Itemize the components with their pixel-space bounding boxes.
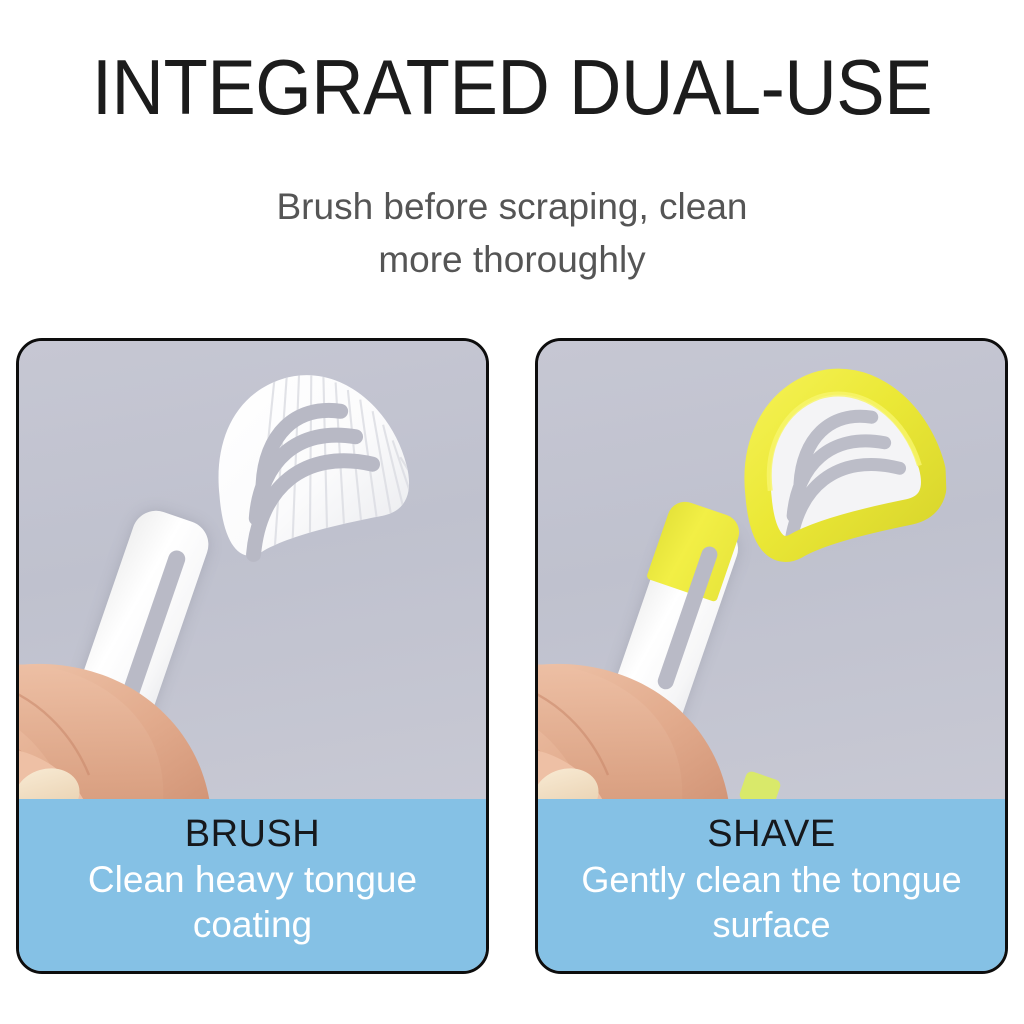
caption-band-shave: SHAVE Gently clean the tongue surface [538, 799, 1005, 971]
caption-title-shave: SHAVE [707, 811, 836, 857]
page-title: INTEGRATED DUAL-USE [36, 46, 988, 128]
subtitle-line-2: more thoroughly [0, 233, 1024, 286]
caption-title-brush: BRUSH [185, 811, 321, 857]
card-shave[interactable]: SHAVE Gently clean the tongue surface [535, 338, 1008, 974]
subtitle-line-1: Brush before scraping, clean [0, 180, 1024, 233]
page-subtitle: Brush before scraping, clean more thorou… [0, 180, 1024, 286]
caption-desc-shave-line-1: Gently clean the tongue [581, 857, 961, 902]
infographic-page: INTEGRATED DUAL-USE Brush before scrapin… [0, 0, 1024, 1024]
shave-head-icon [692, 359, 950, 608]
product-photo-brush [19, 341, 486, 805]
product-photo-shave [538, 341, 1005, 805]
caption-desc-brush-line-1: Clean heavy tongue [88, 857, 417, 902]
caption-desc-shave-line-2: surface [581, 902, 961, 947]
brush-head-icon [163, 361, 421, 600]
caption-desc-shave: Gently clean the tongue surface [577, 857, 965, 947]
caption-desc-brush-line-2: coating [88, 902, 417, 947]
caption-band-brush: BRUSH Clean heavy tongue coating [19, 799, 486, 971]
card-brush[interactable]: BRUSH Clean heavy tongue coating [16, 338, 489, 974]
card-row: BRUSH Clean heavy tongue coating [16, 338, 1008, 974]
caption-desc-brush: Clean heavy tongue coating [84, 857, 421, 947]
